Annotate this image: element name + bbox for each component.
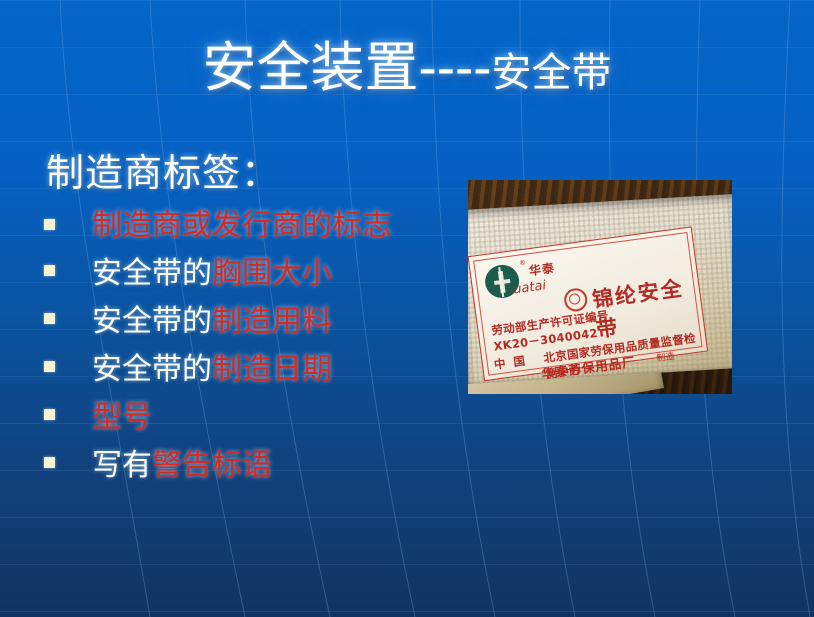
list-item-text: 型号 xyxy=(92,400,152,435)
bullet-marker-icon xyxy=(44,457,55,468)
list-item-date: 安全带的制造日期 xyxy=(44,349,444,391)
section-heading: 制造商标签： xyxy=(46,142,280,197)
title-tail-text: 安全带 xyxy=(491,50,611,96)
list-item-material: 安全带的制造用料 xyxy=(44,301,444,343)
bullet-list: 制造商或发行商的标志 安全带的胸围大小 安全带的制造用料 安全带的制造日期 型号… xyxy=(44,205,444,493)
list-item-white-text: 安全带的 xyxy=(92,352,212,387)
page-title: 安全装置----安全带 xyxy=(0,40,814,97)
list-item-text: 安全带的胸围大小 xyxy=(92,256,332,291)
title-main-text: 安全装置---- xyxy=(203,36,492,99)
bullet-marker-icon xyxy=(44,313,55,324)
registered-mark-icon: ® xyxy=(518,259,526,268)
bullet-marker-icon xyxy=(44,219,55,230)
brand-name-chinese: 华泰 xyxy=(528,259,556,279)
list-item-warning: 写有警告标语 xyxy=(44,445,444,487)
brand-name-latin: uatai xyxy=(512,278,547,297)
list-item-logo: 制造商或发行商的标志 xyxy=(44,205,444,247)
list-item-white-text: 安全带的 xyxy=(92,256,212,291)
label-made-by: 制造 xyxy=(656,349,676,364)
safety-belt-label-photo: ® 华泰 uatai 锦纶安全带 劳动部生产许可证编号 XK20－3040042… xyxy=(468,180,732,394)
bullet-marker-icon xyxy=(44,361,55,372)
list-item-white-text: 写有 xyxy=(92,448,152,483)
label-country: 中 国 xyxy=(493,352,528,372)
manufacturer-label: ® 华泰 uatai 锦纶安全带 劳动部生产许可证编号 XK20－3040042… xyxy=(468,226,708,381)
list-item-red-text: 制造商或发行商的标志 xyxy=(92,208,392,243)
list-item-text: 安全带的制造日期 xyxy=(92,352,332,387)
belt-webbing: ® 华泰 uatai 锦纶安全带 劳动部生产许可证编号 XK20－3040042… xyxy=(468,194,732,384)
list-item-red-text: 胸围大小 xyxy=(212,256,332,291)
list-item-text: 写有警告标语 xyxy=(92,448,272,483)
list-item-white-text: 安全带的 xyxy=(92,304,212,339)
list-item-red-text: 制造日期 xyxy=(212,352,332,387)
list-item-text: 安全带的制造用料 xyxy=(92,304,332,339)
list-item-text: 制造商或发行商的标志 xyxy=(92,208,392,243)
list-item-red-text: 型号 xyxy=(92,400,152,435)
list-item-red-text: 警告标语 xyxy=(152,448,272,483)
certification-stamp-icon xyxy=(563,287,589,313)
list-item-chest-size: 安全带的胸围大小 xyxy=(44,253,444,295)
list-item-red-text: 制造用料 xyxy=(212,304,332,339)
presentation-slide: 安全装置----安全带 制造商标签： 制造商或发行商的标志 安全带的胸围大小 安… xyxy=(0,0,814,617)
label-inner-border: ® 华泰 uatai 锦纶安全带 劳动部生产许可证编号 XK20－3040042… xyxy=(473,232,702,376)
list-item-model: 型号 xyxy=(44,397,444,439)
bullet-marker-icon xyxy=(44,409,55,420)
bullet-marker-icon xyxy=(44,265,55,276)
